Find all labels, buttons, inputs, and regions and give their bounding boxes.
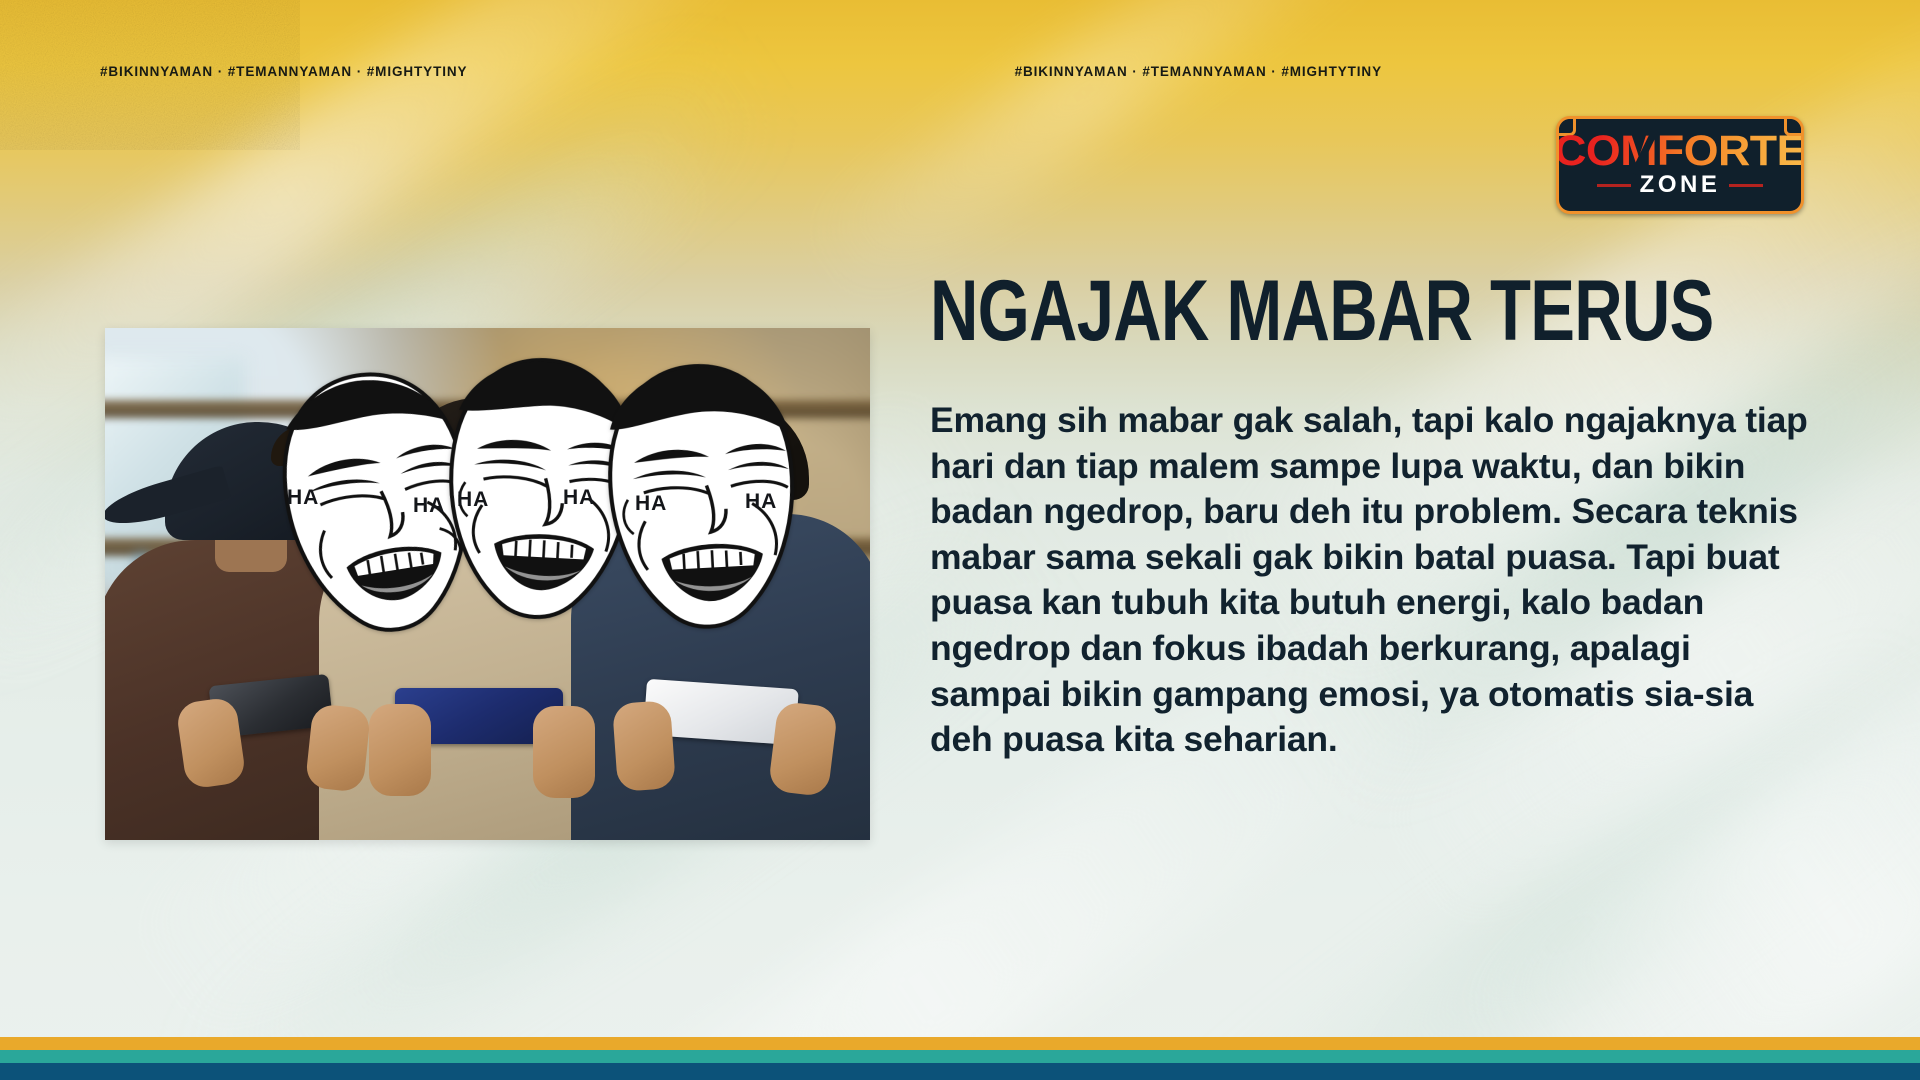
- photo-hand: [612, 700, 676, 792]
- footer-stripe-teal: [0, 1050, 1920, 1063]
- footer-stripe-navy: [0, 1063, 1920, 1080]
- laugh-label: HA: [745, 490, 777, 514]
- slide-canvas: #BIKINNYAMAN · #TEMANNYAMAN · #MIGHTYTIN…: [0, 0, 1920, 1080]
- laugh-label: HA: [413, 494, 445, 518]
- footer-stripe-gold: [0, 1037, 1920, 1050]
- logo-wordmark: COMFORTE: [1556, 131, 1804, 171]
- comforte-zone-logo[interactable]: COMFORTE ZONE: [1556, 116, 1804, 214]
- photo-hand: [305, 703, 371, 793]
- body-paragraph: Emang sih mabar gak salah, tapi kalo nga…: [930, 398, 1810, 763]
- photo-hand: [369, 704, 431, 796]
- logo-dash-left: [1597, 184, 1631, 187]
- photo-gamers-laughing: HA HA HA HA HA HA: [105, 328, 870, 840]
- laugh-label: HA: [635, 492, 667, 516]
- page-title: NGAJAK MABAR TERUS: [930, 272, 1507, 351]
- photo-hand: [533, 706, 595, 798]
- logo-subtitle: ZONE: [1640, 171, 1721, 199]
- laugh-label: HA: [457, 488, 489, 512]
- logo-subtitle-row: ZONE: [1597, 171, 1764, 199]
- photo-hand: [768, 701, 839, 798]
- logo-inner: COMFORTE ZONE: [1559, 119, 1801, 211]
- footer-stripes: [0, 1037, 1920, 1080]
- logo-dash-right: [1729, 184, 1763, 187]
- light-streak: [795, 0, 1426, 308]
- hashtag-bar-left: #BIKINNYAMAN · #TEMANNYAMAN · #MIGHTYTIN…: [100, 64, 467, 79]
- hashtag-bar-right: #BIKINNYAMAN · #TEMANNYAMAN · #MIGHTYTIN…: [1015, 64, 1382, 79]
- laugh-label: HA: [563, 486, 595, 510]
- laugh-label: HA: [287, 486, 319, 510]
